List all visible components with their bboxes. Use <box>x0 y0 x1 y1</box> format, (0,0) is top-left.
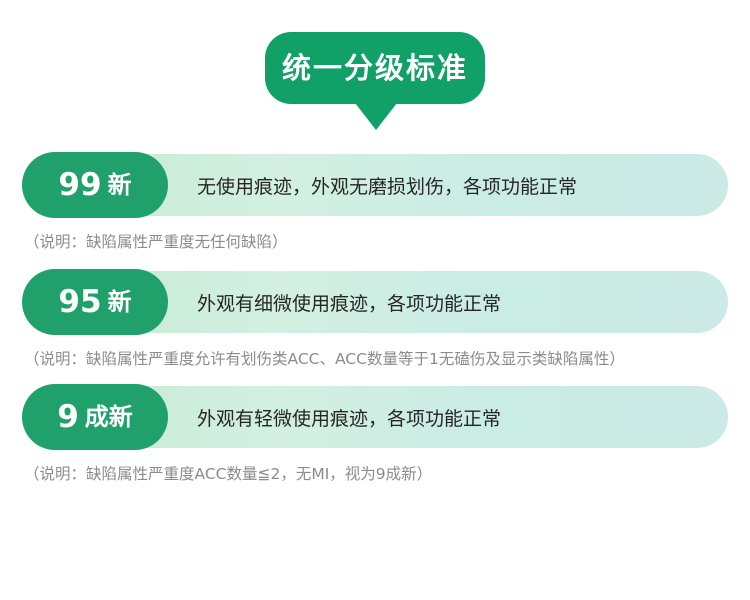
grade-standard-list: 99 新 无使用痕迹，外观无磨损划伤，各项功能正常 （说明：缺陷属性严重度无任何… <box>0 152 750 487</box>
grade-description: 外观有细微使用痕迹，各项功能正常 <box>197 269 501 335</box>
grade-badge: 9 成新 <box>22 384 168 450</box>
grade-item: 9 成新 外观有轻微使用痕迹，各项功能正常 （说明：缺陷属性严重度ACC数量≦2… <box>0 384 750 487</box>
grade-badge: 95 新 <box>22 269 168 335</box>
page-title-banner: 统一分级标准 <box>0 32 750 132</box>
grade-badge-unit: 成新 <box>85 405 133 429</box>
grade-note: （说明：缺陷属性严重度无任何缺陷） <box>0 218 750 269</box>
grade-badge-unit: 新 <box>108 173 132 197</box>
grade-note: （说明：缺陷属性严重度允许有划伤类ACC、ACC数量等于1无磕伤及显示类缺陷属性… <box>0 335 750 384</box>
grade-badge-unit: 新 <box>108 290 132 314</box>
title-bubble: 统一分级标准 <box>265 32 485 104</box>
grade-badge-number: 99 <box>58 170 101 201</box>
grade-row: 95 新 外观有细微使用痕迹，各项功能正常 <box>22 269 728 335</box>
page-title: 统一分级标准 <box>282 54 468 83</box>
grade-row: 99 新 无使用痕迹，外观无磨损划伤，各项功能正常 <box>22 152 728 218</box>
grade-badge: 99 新 <box>22 152 168 218</box>
grade-description: 无使用痕迹，外观无磨损划伤，各项功能正常 <box>197 152 577 218</box>
grade-item: 95 新 外观有细微使用痕迹，各项功能正常 （说明：缺陷属性严重度允许有划伤类A… <box>0 269 750 384</box>
speech-bubble-tail-icon <box>355 103 397 130</box>
grade-row: 9 成新 外观有轻微使用痕迹，各项功能正常 <box>22 384 728 450</box>
grade-note: （说明：缺陷属性严重度ACC数量≦2，无MI，视为9成新） <box>0 450 750 487</box>
grade-description: 外观有轻微使用痕迹，各项功能正常 <box>197 384 501 450</box>
grade-badge-number: 9 <box>57 402 79 433</box>
grade-badge-number: 95 <box>58 287 101 318</box>
grade-item: 99 新 无使用痕迹，外观无磨损划伤，各项功能正常 （说明：缺陷属性严重度无任何… <box>0 152 750 269</box>
